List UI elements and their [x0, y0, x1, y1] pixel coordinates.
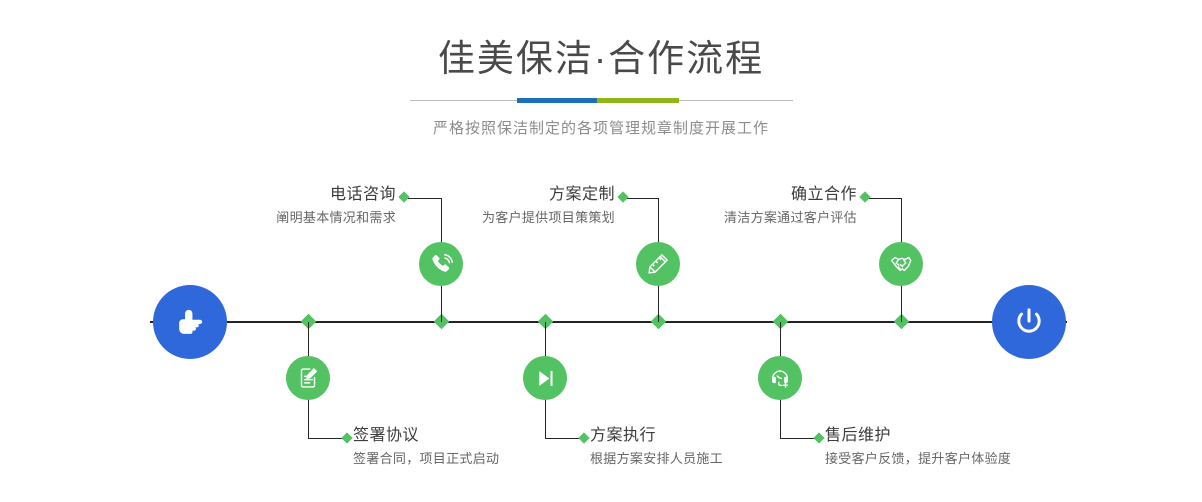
step-label-6: 售后维护 接受客户反馈，提升客户体验度 — [825, 427, 1011, 466]
connector-horizontal-4 — [545, 438, 583, 439]
connector-horizontal-6 — [780, 438, 818, 439]
step-desc-6: 接受客户反馈，提升客户体验度 — [825, 452, 1011, 466]
document-edit-icon — [295, 365, 321, 391]
connector-horizontal-3 — [624, 198, 659, 199]
step-desc-3: 为客户提供项目策策划 — [482, 211, 615, 225]
step-title-3: 方案定制 — [482, 186, 615, 204]
step-node-3 — [636, 242, 680, 286]
step-title-1: 电话咨询 — [276, 186, 396, 204]
infographic-canvas: 佳美保洁·合作流程 严格按照保洁制定的各项管理规章制度开展工作 — [0, 0, 1202, 502]
label-marker-4 — [578, 432, 589, 443]
step-node-4 — [523, 356, 567, 400]
step-desc-5: 清洁方案通过客户评估 — [724, 211, 857, 225]
connector-horizontal-5 — [866, 198, 902, 199]
step-title-6: 售后维护 — [825, 427, 1011, 445]
customer-service-add-icon — [767, 365, 793, 391]
step-title-5: 确立合作 — [724, 186, 857, 204]
step-desc-2: 签署合同，项目正式启动 — [353, 452, 499, 466]
pencil-ruler-icon — [645, 251, 671, 277]
label-marker-2 — [341, 432, 352, 443]
connector-horizontal-1 — [405, 198, 442, 199]
label-marker-5 — [859, 191, 870, 202]
timeline-axis — [150, 321, 1067, 323]
step-label-4: 方案执行 根据方案安排人员施工 — [590, 427, 723, 466]
step-label-1: 电话咨询 阐明基本情况和需求 — [276, 186, 396, 225]
step-node-6 — [758, 356, 802, 400]
step-label-5: 确立合作 清洁方案通过客户评估 — [724, 186, 857, 225]
play-forward-icon — [533, 366, 558, 391]
step-label-2: 签署协议 签署合同，项目正式启动 — [353, 427, 499, 466]
step-label-3: 方案定制 为客户提供项目策策划 — [482, 186, 615, 225]
step-node-2 — [286, 356, 330, 400]
handshake-icon — [888, 251, 914, 277]
phone-call-icon — [428, 251, 455, 278]
step-node-5 — [879, 242, 923, 286]
step-node-1 — [419, 242, 463, 286]
power-icon — [1009, 302, 1049, 342]
step-title-4: 方案执行 — [590, 427, 723, 445]
pointing-hand-icon — [170, 302, 210, 342]
label-marker-6 — [813, 432, 824, 443]
step-desc-1: 阐明基本情况和需求 — [276, 211, 396, 225]
process-timeline: 电话咨询 阐明基本情况和需求 签署协议 签署合同，项目正式启动 — [0, 0, 1202, 502]
step-desc-4: 根据方案安排人员施工 — [590, 452, 723, 466]
timeline-end-node — [992, 285, 1066, 359]
label-marker-3 — [617, 191, 628, 202]
step-title-2: 签署协议 — [353, 427, 499, 445]
timeline-start-node — [153, 285, 227, 359]
connector-horizontal-2 — [308, 438, 346, 439]
label-marker-1 — [398, 191, 409, 202]
